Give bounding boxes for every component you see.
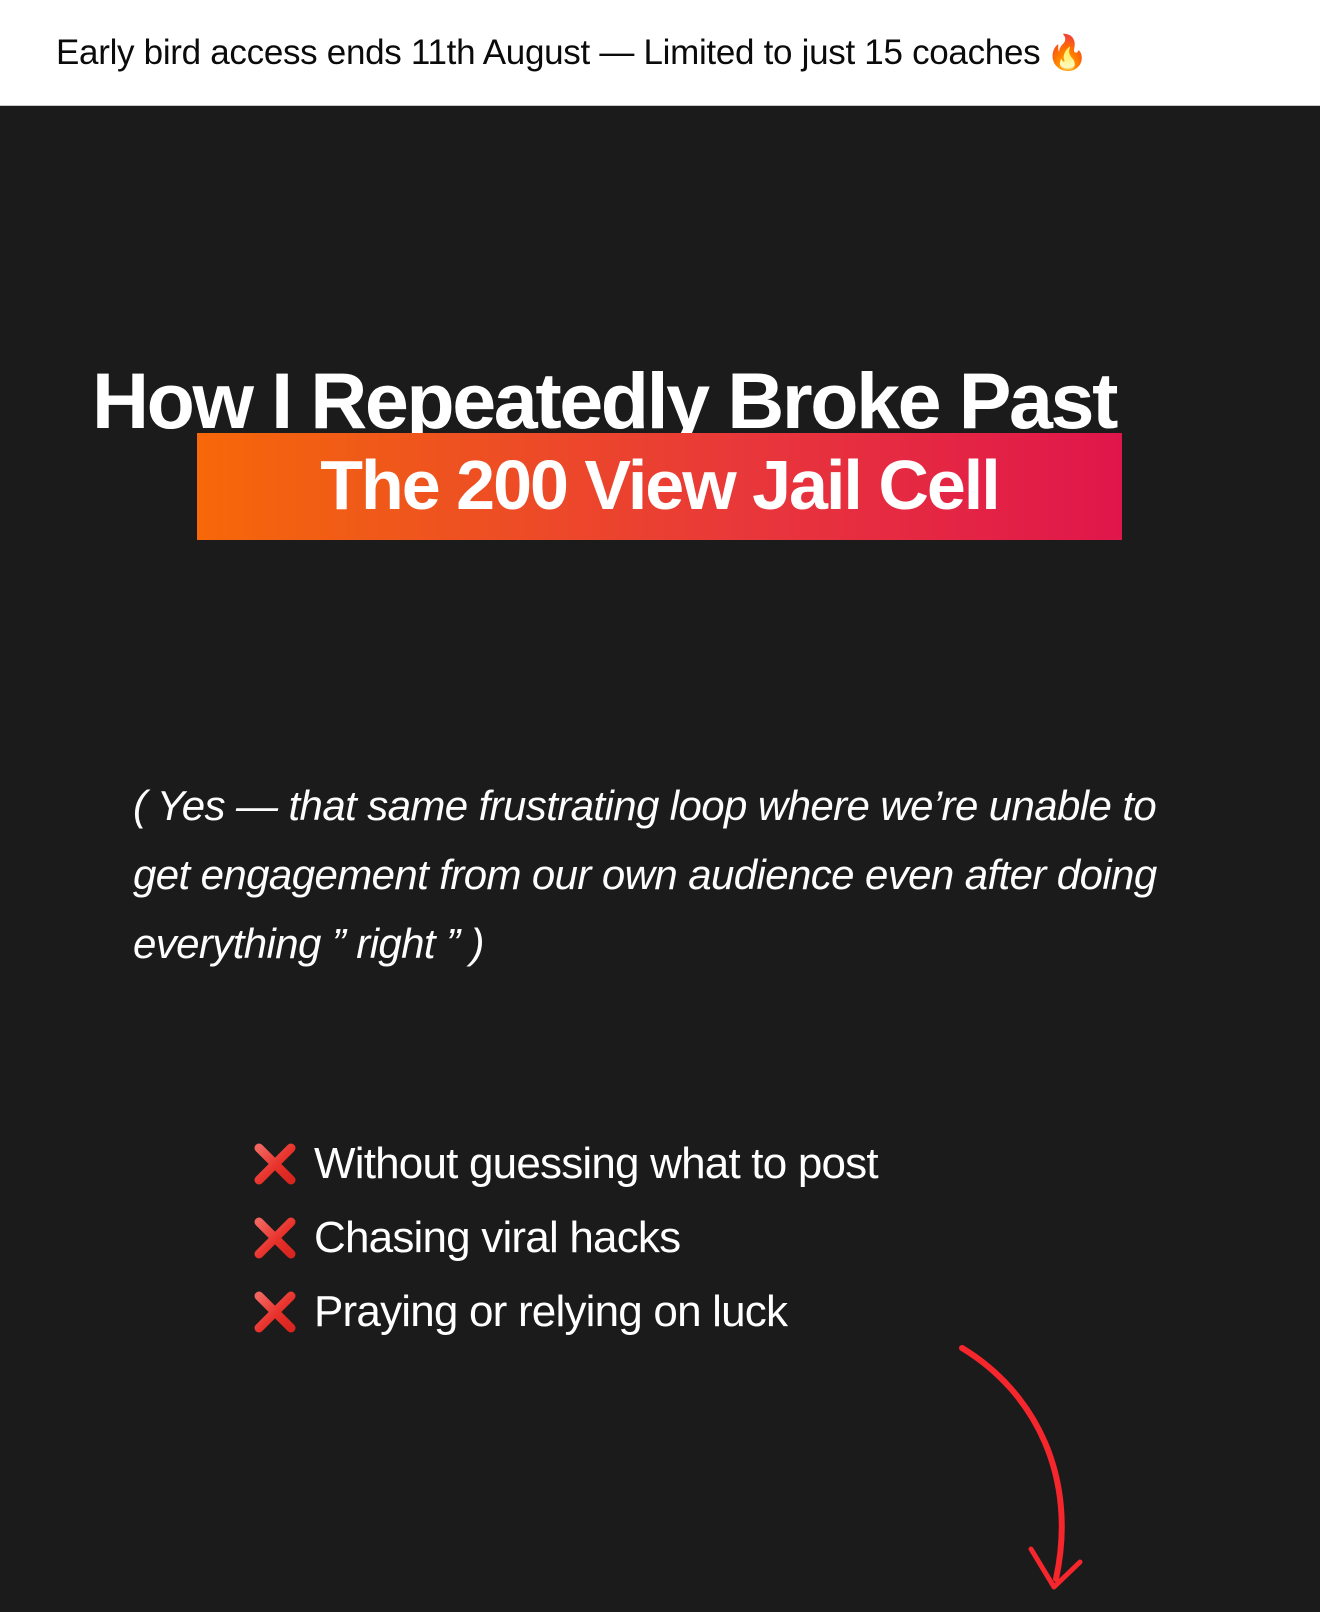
announcement-label: Early bird access ends 11th August — Lim… [56,33,1040,72]
objection-label: Without guessing what to post [314,1142,878,1186]
objection-label: Chasing viral hacks [314,1216,680,1260]
cross-mark-emoji-icon [248,1211,302,1265]
curved-down-arrow-icon [930,1317,1190,1607]
headline-highlight-banner: The 200 View Jail Cell [197,433,1122,540]
list-item: Praying or relying on luck [248,1275,1068,1349]
objection-label: Praying or relying on luck [314,1290,787,1334]
objection-list: Without guessing what to post Chasing vi… [248,1127,1068,1349]
fire-emoji: 🔥 [1046,34,1088,72]
hero-subcopy: ( Yes — that same frustrating loop where… [133,771,1208,978]
cross-mark-emoji-icon [248,1285,302,1339]
cross-mark-emoji-icon [248,1137,302,1191]
hero-section: How I Repeatedly Broke Past The 200 View… [0,107,1320,1500]
list-item: Without guessing what to post [248,1127,1068,1201]
list-item: Chasing viral hacks [248,1201,1068,1275]
headline-highlight-text: The 200 View Jail Cell [320,450,998,524]
announcement-bar: Early bird access ends 11th August — Lim… [0,0,1320,106]
announcement-text: Early bird access ends 11th August — Lim… [0,33,1088,73]
